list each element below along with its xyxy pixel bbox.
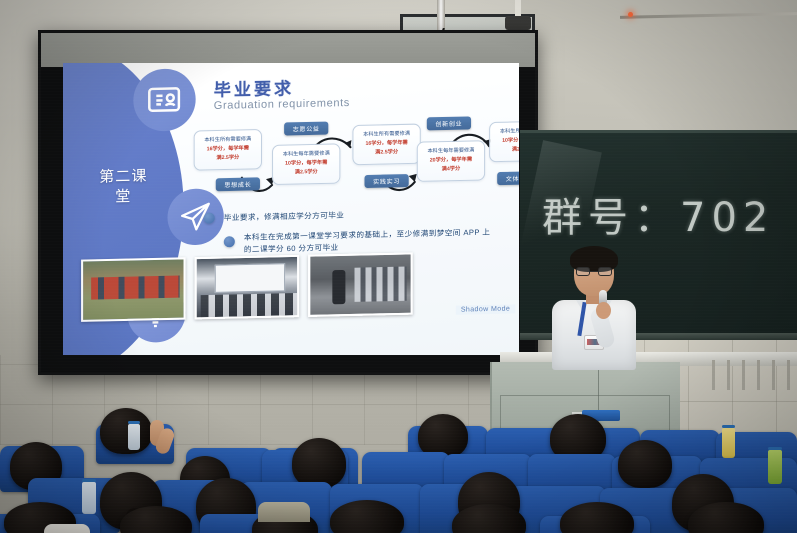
flow-card: 本科生每年需要修满 20学分，每学年需 满4学分 — [417, 140, 485, 182]
desk-legs — [700, 360, 796, 390]
slide-watermark: Shadow Mode — [456, 304, 515, 314]
slide-photo — [308, 252, 413, 317]
water-bottle — [722, 428, 735, 458]
eyeglasses-icon — [576, 267, 612, 276]
flow-card-line3: 满2.5学分 — [357, 148, 415, 158]
bottle-cap — [768, 447, 782, 450]
speaker-person — [546, 250, 642, 368]
flow-card-line3: 满2.5学分 — [199, 153, 257, 163]
flow-card: 本科生所有需要修满 16学分，每学年需 满2.5学分 — [194, 129, 262, 171]
flow-tag: 志愿公益 — [284, 122, 328, 136]
bottle-cap — [128, 421, 140, 424]
flow-card-line3: 满2.5学分 — [277, 168, 335, 178]
water-bottle — [82, 482, 96, 514]
audience-head — [618, 440, 672, 488]
flow-tag: 文体活动 — [497, 171, 519, 185]
audience-head — [100, 408, 152, 454]
water-bottle — [768, 450, 782, 484]
flow-card-line3: 满2.5学分 — [494, 145, 519, 155]
audience-shirt — [44, 524, 90, 533]
projector-screen: 第二课堂 毕业要求 Graduation requirements — [38, 30, 538, 375]
slide-photo — [81, 257, 186, 322]
flow-card: 本科生每年需要修满 10学分，每学年需 满2.5学分 — [272, 143, 340, 185]
blackboard-text: 群号：702 — [542, 185, 774, 243]
flow-card: 本科生所有需要修满 16学分，每学年需 满2.5学分 — [352, 124, 420, 166]
water-bottle — [128, 424, 140, 450]
projector-body — [505, 16, 531, 30]
flow-tag: 思想成长 — [216, 177, 260, 191]
lecture-hall-photo: 第二课堂 毕业要求 Graduation requirements — [0, 0, 797, 533]
screen-top-strip — [41, 33, 535, 67]
flow-card: 本科生所有需要修满 10学分，每学年需 满2.5学分 — [489, 121, 519, 163]
flow-tag: 实践实习 — [365, 174, 409, 188]
slide-photo — [195, 255, 300, 320]
audience-shirt — [258, 502, 310, 522]
indicator-led-icon — [628, 12, 633, 17]
speaker-hand — [596, 302, 611, 319]
photo-strip — [81, 252, 413, 322]
flow-card-line3: 满4学分 — [422, 165, 480, 175]
flow-card-line2: 10学分，每学年需 — [494, 136, 519, 146]
bottle-cap — [722, 425, 735, 428]
bottle-cap — [82, 479, 96, 482]
presentation-slide: 第二课堂 毕业要求 Graduation requirements — [63, 63, 519, 355]
audience-head — [292, 438, 346, 488]
audience-area — [0, 398, 797, 533]
flow-tag: 创新创业 — [427, 116, 471, 130]
flow-card-line1: 本科生所有需要修满 — [494, 127, 519, 137]
